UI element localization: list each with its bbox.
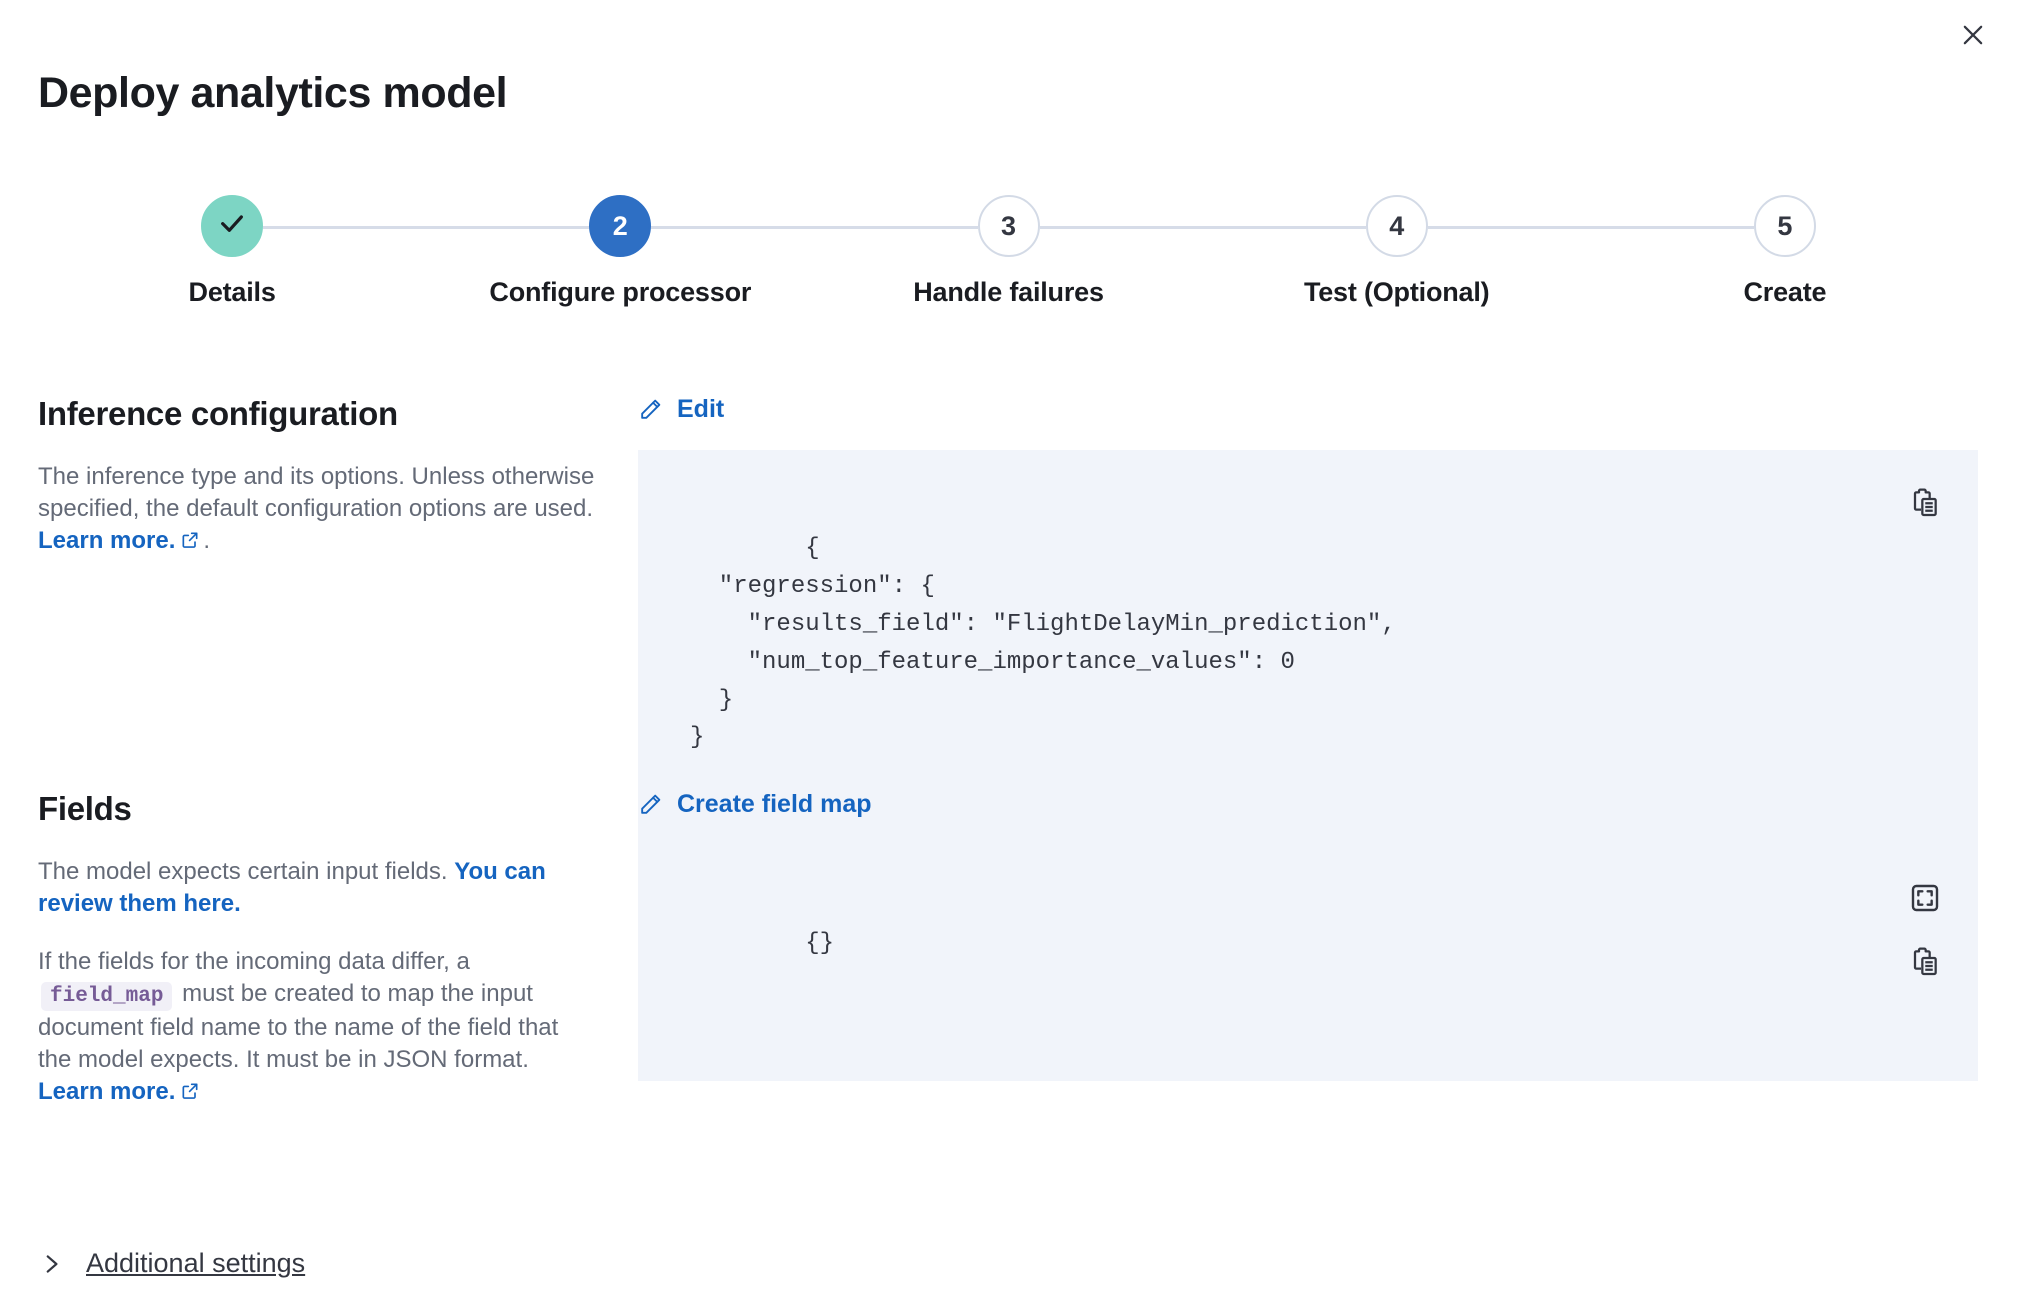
step-circle-4[interactable]: 4 [1366, 195, 1428, 257]
fields-description-2: If the fields for the incoming data diff… [38, 946, 598, 1108]
step-create[interactable]: 5 Create [1591, 195, 1979, 308]
step-circle-2[interactable]: 2 [589, 195, 651, 257]
step-connector [651, 226, 814, 229]
check-icon [216, 207, 248, 246]
field-map-code-tools [1918, 881, 1952, 979]
step-label-1: Details [189, 277, 276, 308]
fields-desc2-lead: If the fields for the incoming data diff… [38, 948, 470, 975]
external-link-icon [180, 530, 200, 550]
step-label-2: Configure processor [489, 277, 751, 308]
edit-inference-config-label: Edit [677, 395, 724, 424]
edit-inference-config-button[interactable]: Edit [638, 395, 724, 424]
step-handle-failures[interactable]: 3 Handle failures [814, 195, 1202, 308]
fields-section: Fields The model expects certain input f… [38, 790, 1979, 1134]
step-circle-3[interactable]: 3 [978, 195, 1040, 257]
fields-description-column: Fields The model expects certain input f… [38, 790, 638, 1134]
close-button[interactable] [1951, 14, 1995, 58]
fields-learn-more-link[interactable]: Learn more. [38, 1078, 175, 1105]
step-connector [1428, 226, 1591, 229]
step-connector [1591, 226, 1754, 229]
step-connector [1040, 226, 1203, 229]
step-connector [1203, 226, 1366, 229]
wizard-stepper: Details 2 Configure processor 3 Handle f… [38, 195, 1979, 308]
step-label-5: Create [1743, 277, 1826, 308]
expand-field-map-button[interactable] [1918, 881, 1952, 915]
pencil-icon [638, 397, 663, 422]
step-connector [263, 226, 426, 229]
inference-desc-text: The inference type and its options. Unle… [38, 463, 594, 522]
external-link-icon [180, 1081, 200, 1101]
field-map-code-block: {} [638, 845, 1978, 1081]
additional-settings-accordion[interactable]: Additional settings [38, 1248, 305, 1279]
create-field-map-label: Create field map [677, 790, 872, 819]
step-circle-5[interactable]: 5 [1754, 195, 1816, 257]
page-title: Deploy analytics model [38, 69, 507, 118]
field-map-code-token: field_map [41, 982, 172, 1011]
fields-description-1: The model expects certain input fields. … [38, 856, 598, 920]
step-circle-1[interactable] [201, 195, 263, 257]
fields-code-column: Create field map {} [638, 790, 1978, 1134]
copy-icon [1909, 916, 1961, 1008]
inference-desc-tail: . [203, 527, 210, 554]
additional-settings-label: Additional settings [86, 1248, 305, 1279]
inference-description: The inference type and its options. Unle… [38, 461, 598, 557]
field-map-code: {} [805, 930, 834, 957]
fields-title: Fields [38, 790, 598, 828]
deploy-model-flyout: Deploy analytics model Details 2 Configu… [0, 0, 2017, 1311]
step-details[interactable]: Details [38, 195, 426, 308]
step-configure-processor[interactable]: 2 Configure processor [426, 195, 814, 308]
step-connector [814, 226, 977, 229]
chevron-right-icon [38, 1251, 64, 1277]
pencil-icon [638, 792, 663, 817]
step-test-optional[interactable]: 4 Test (Optional) [1203, 195, 1591, 308]
fields-desc-text: The model expects certain input fields. [38, 858, 454, 885]
create-field-map-button[interactable]: Create field map [638, 790, 872, 819]
copy-inference-config-button[interactable] [1918, 486, 1952, 520]
inference-learn-more-link[interactable]: Learn more. [38, 527, 175, 554]
inference-config-code: { "regression": { "results_field": "Flig… [690, 535, 1396, 752]
copy-icon [1909, 457, 1961, 549]
step-label-4: Test (Optional) [1304, 277, 1490, 308]
inference-code-tools [1918, 486, 1952, 520]
close-icon [1959, 21, 1987, 52]
step-connector [426, 226, 589, 229]
step-label-3: Handle failures [913, 277, 1104, 308]
copy-field-map-button[interactable] [1918, 945, 1952, 979]
inference-title: Inference configuration [38, 395, 598, 433]
